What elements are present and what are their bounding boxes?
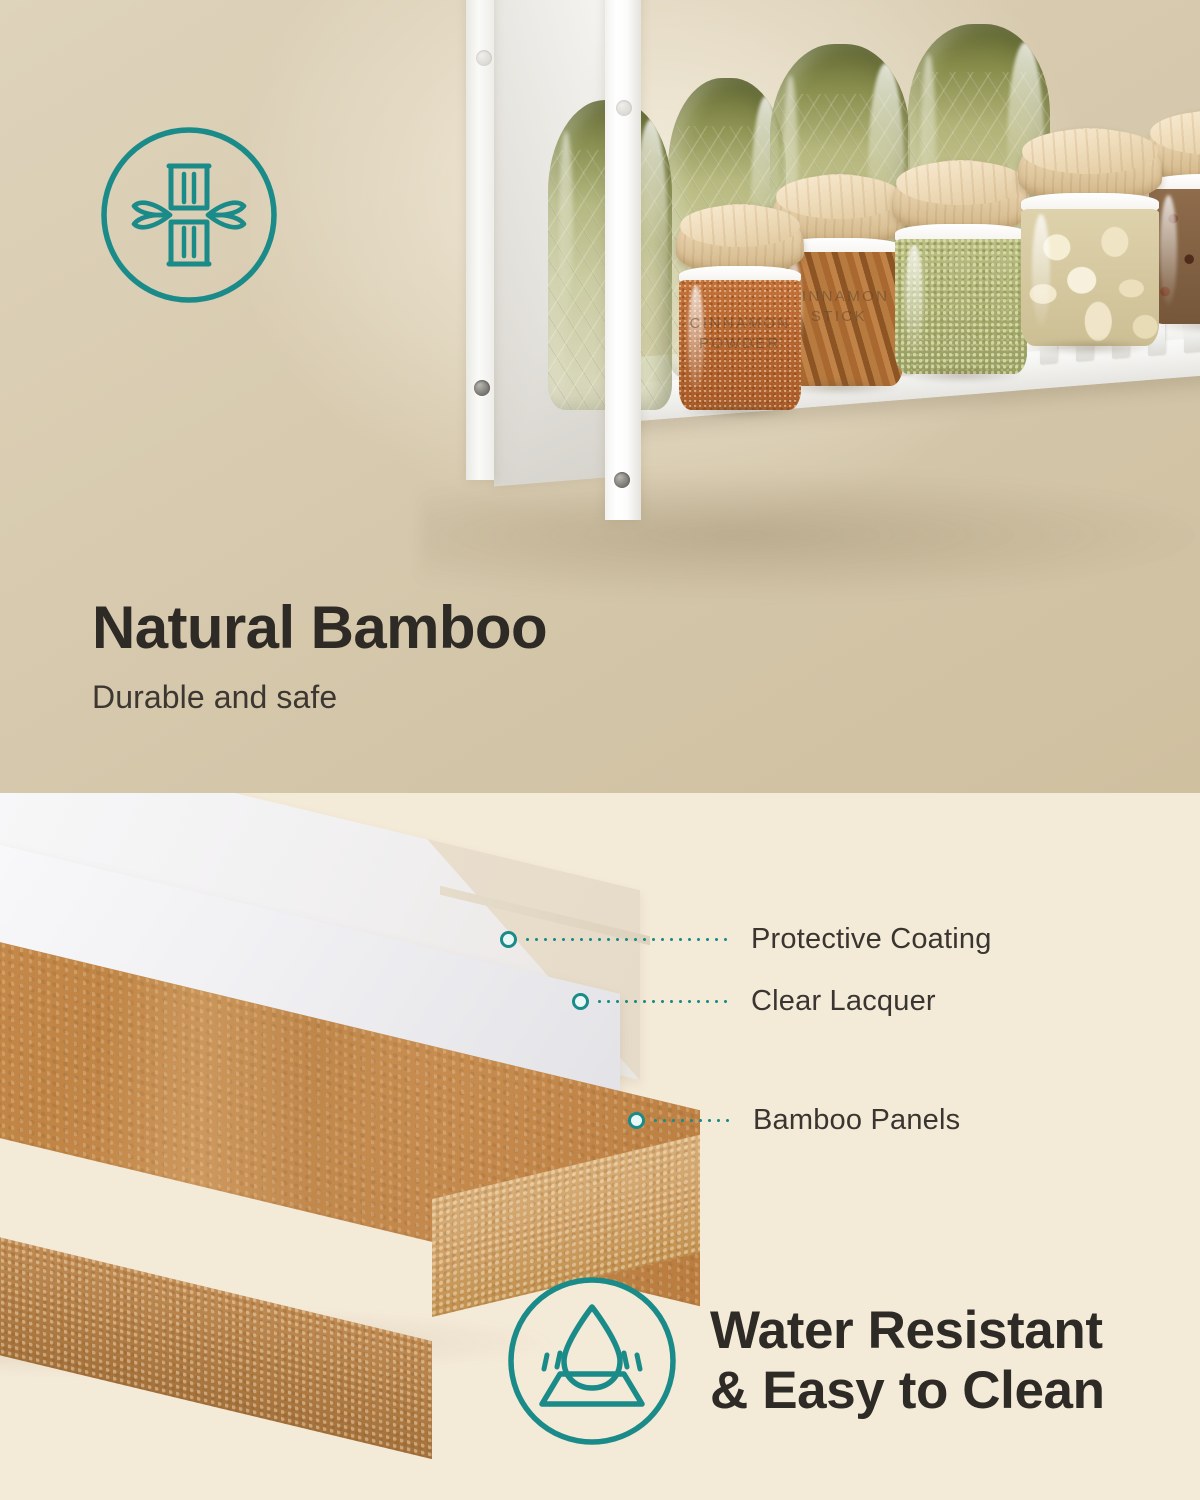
jar-bamboo-lid [1018,128,1162,202]
water-drop-on-surface-icon [502,1271,682,1451]
jar-bamboo-lid [676,204,804,274]
water-resistant-feature: Water Resistant & Easy to Clean [502,1271,1105,1451]
rack-screw-lower-front [614,472,630,488]
spice-rack-product-image: CINNAMONPOWDER CINNAMONSTICK [440,0,1200,580]
bamboo-slab-front-face [0,1199,432,1459]
page-title: Natural Bamboo [92,596,547,659]
callout-bamboo-panels: Bamboo Panels [628,1104,960,1137]
jar-contact-shadow [898,367,1025,383]
headline-block: Natural Bamboo Durable and safe [92,596,547,716]
callout-dot-icon [500,931,517,948]
jar-glass-body [1021,209,1159,346]
callout-dot-icon [572,993,589,1010]
jar-glass-sheen [905,245,922,356]
callout-leader-line [595,1000,729,1003]
jar-glass-body: CINNAMONPOWDER [679,280,802,410]
callout-dot-icon [628,1112,645,1129]
callout-label: Bamboo Panels [753,1104,960,1137]
callout-clear-lacquer: Clear Lacquer [572,985,936,1018]
callout-leader-line [523,938,729,941]
jar-glass-body [895,239,1027,374]
rack-screw-mid [616,100,632,116]
jar-bamboo-lid [892,160,1030,233]
callout-label: Protective Coating [751,923,992,956]
jar-lid-top-face [680,205,800,247]
bamboo-stalk-icon [96,122,282,308]
jar-highlight-secondary [559,131,573,323]
callout-leader-line [651,1119,731,1122]
feature-title-line2: & Easy to Clean [710,1361,1105,1421]
feature-title-line1: Water Resistant [710,1301,1105,1361]
jar-contact-shadow [1024,339,1156,355]
jar-glass-sheen [1160,195,1177,306]
jar-contact-shadow [681,403,799,419]
natural-bamboo-section: CINNAMONPOWDER CINNAMONSTICK [0,0,1200,793]
rack-screw-upper [476,50,492,66]
jar-garlic-cloves [1018,128,1162,346]
rack-post-back [466,0,494,480]
page-subtitle: Durable and safe [92,679,547,716]
rack-screw-lower-left [474,380,490,396]
callout-protective-coating: Protective Coating [500,923,992,956]
jar-glass-sheen [1032,214,1050,327]
jar-dried-herbs [892,160,1030,374]
jar-lid-top-face [896,161,1026,205]
jar-lid-top-face [1022,129,1157,173]
callout-label: Clear Lacquer [751,985,936,1018]
water-resistant-text-block: Water Resistant & Easy to Clean [710,1301,1105,1421]
rack-post-front [605,0,641,520]
jar-cinnamon-powder: CINNAMONPOWDER [676,204,804,410]
